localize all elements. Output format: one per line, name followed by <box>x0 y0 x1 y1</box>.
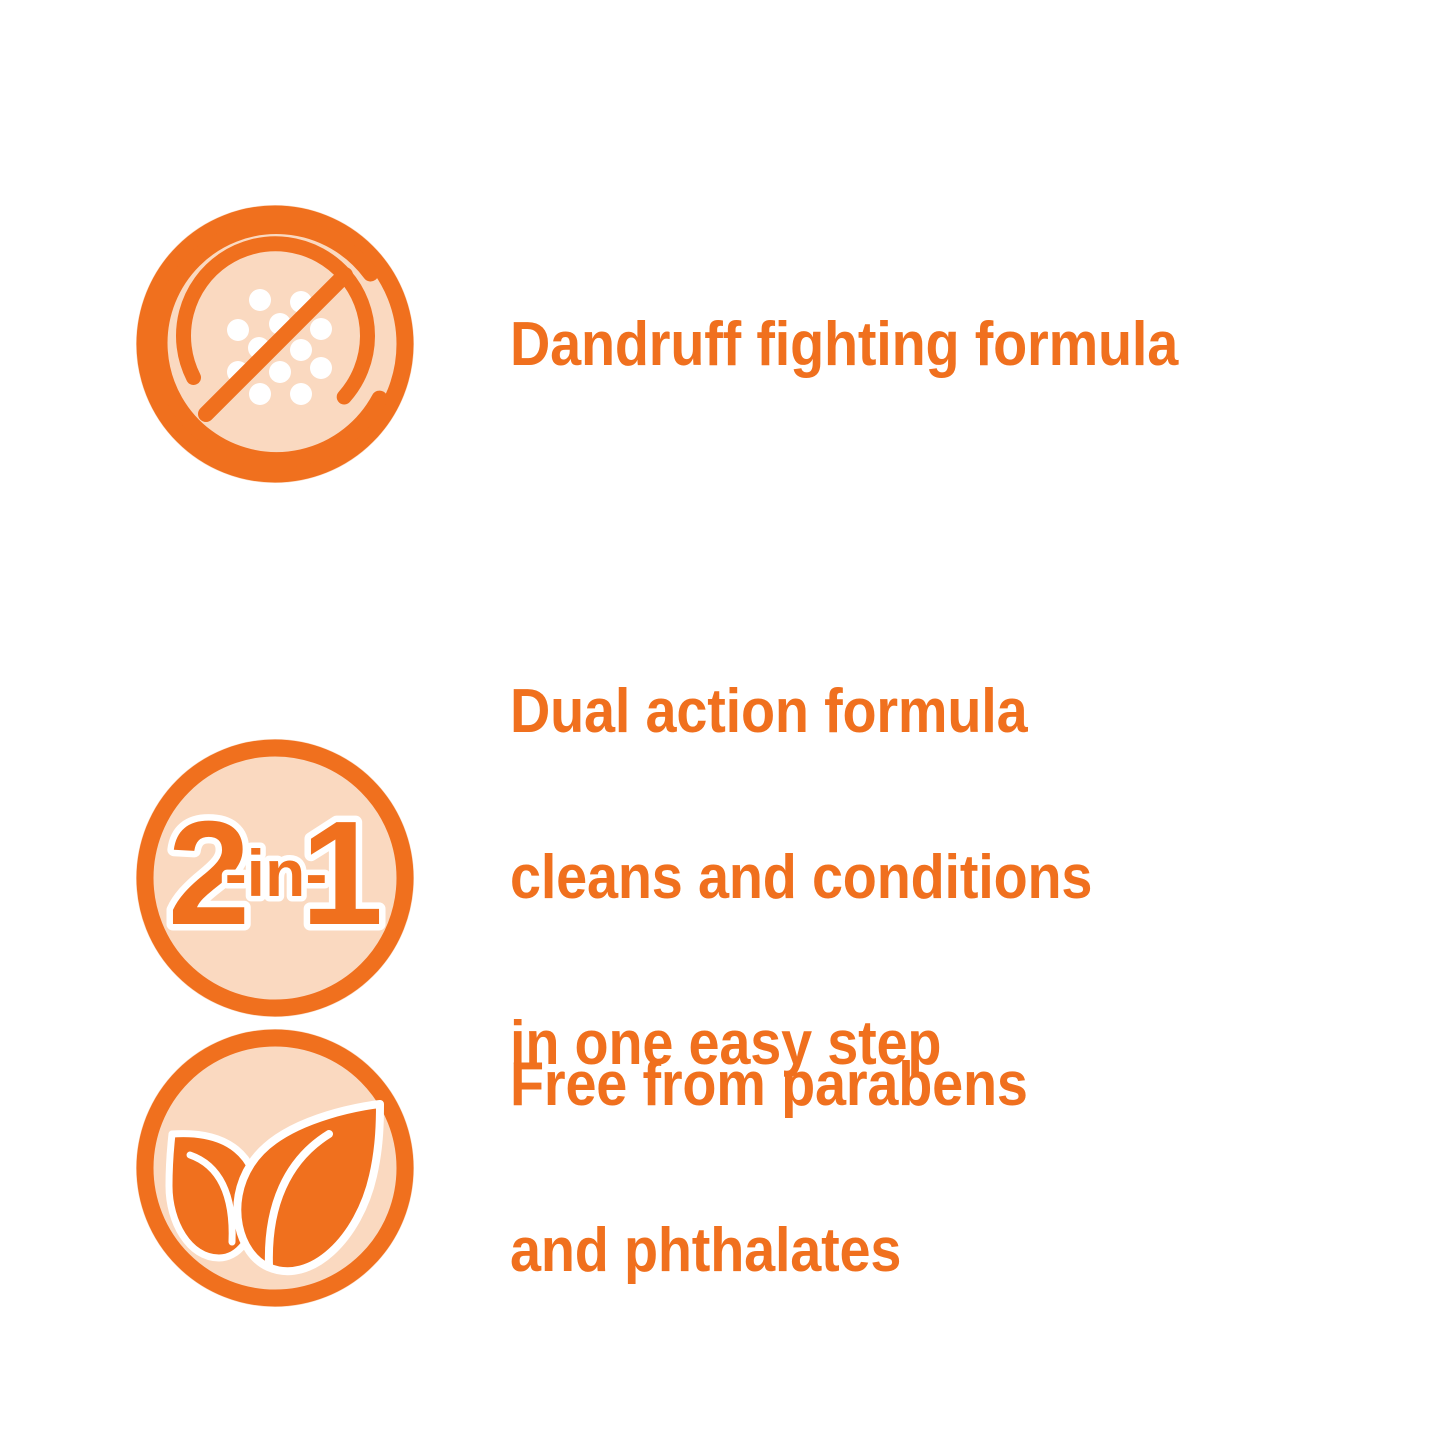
feature-list: Dandruff fighting formula 2 2 -in- -in- <box>0 0 1445 1445</box>
numeral-right: 1 <box>301 791 383 956</box>
feature-text-line: and phthalates <box>510 1209 1305 1292</box>
leaves-icon <box>133 1026 417 1310</box>
feature-text-line: Free from parabens <box>510 1043 1305 1126</box>
feature-row: Free from parabens and phthalates <box>133 960 1393 1375</box>
feature-row: Dandruff fighting formula <box>133 202 1393 486</box>
feature-text-line: cleans and conditions <box>510 836 1305 919</box>
no-dandruff-icon <box>133 202 417 486</box>
feature-text-line: Dual action formula <box>510 670 1305 753</box>
feature-text: Free from parabens and phthalates <box>510 960 1305 1375</box>
product-feature-graphic: Dandruff fighting formula 2 2 -in- -in- <box>0 0 1445 1445</box>
feature-text-line: Dandruff fighting formula <box>510 303 1305 386</box>
feature-text: Dandruff fighting formula <box>510 220 1305 469</box>
